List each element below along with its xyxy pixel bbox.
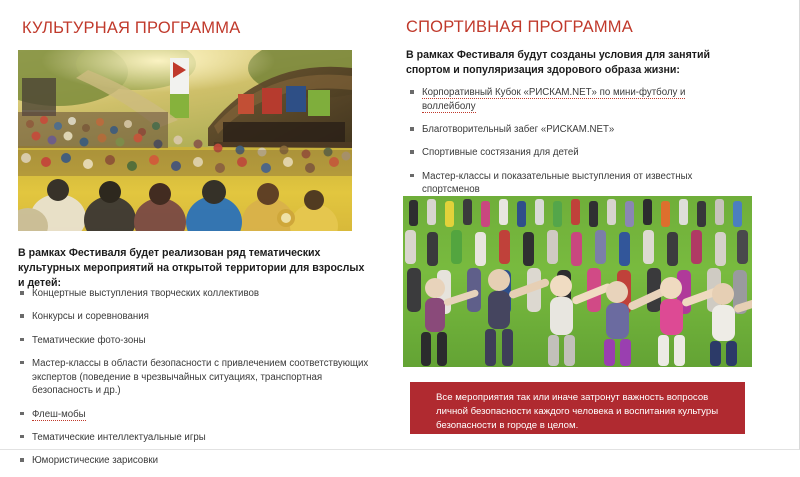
bullet-square-icon [20, 338, 24, 342]
safety-callout-text: Все мероприятия так или иначе затронут в… [410, 382, 745, 433]
list-item: Тематические интеллектуальные игры [18, 431, 378, 445]
bullet-square-icon [20, 361, 24, 365]
sport-program-column: СПОРТИВНАЯ ПРОГРАММА В рамках Фестиваля … [396, 0, 800, 450]
list-item: Тематические фото-зоны [18, 334, 378, 348]
list-item: Юмористические зарисовки [18, 454, 378, 468]
bullet-square-icon [410, 127, 414, 131]
list-item-label: Мастер-классы и показательные выступлени… [422, 171, 692, 196]
mass-aerobics-photo [403, 196, 752, 367]
bullet-square-icon [410, 174, 414, 178]
list-item: Флеш-мобы [18, 408, 378, 422]
sport-program-bullet-list: Корпоративный Кубок «РИСКАМ.NET» по мини… [408, 86, 738, 207]
bullet-square-icon [20, 314, 24, 318]
list-item-label: Юмористические зарисовки [32, 455, 158, 466]
sport-program-lead-text: В рамках Фестиваля будут созданы условия… [406, 48, 738, 78]
list-item-label: Конкурсы и соревнования [32, 311, 149, 322]
list-item-label: Благотворительный забег «РИСКАМ.NET» [422, 124, 614, 135]
list-item-label: Спортивные состязания для детей [422, 147, 579, 158]
list-item: Спортивные состязания для детей [408, 146, 738, 160]
list-item: Концертные выступления творческих коллек… [18, 287, 378, 301]
bullet-square-icon [410, 150, 414, 154]
bullet-square-icon [20, 458, 24, 462]
bullet-square-icon [20, 435, 24, 439]
list-item: Мастер-классы и показательные выступлени… [408, 170, 738, 198]
list-item: Мастер-классы в области безопасности с п… [18, 357, 378, 398]
list-item-label: Концертные выступления творческих коллек… [32, 288, 259, 299]
cultural-program-lead-text: В рамках Фестиваля будет реализован ряд … [18, 246, 370, 291]
list-item-label: Флеш-мобы [32, 409, 86, 421]
cultural-program-column: КУЛЬТУРНАЯ ПРОГРАММА [0, 0, 396, 450]
slide-canvas: КУЛЬТУРНАЯ ПРОГРАММА [0, 0, 800, 450]
festival-crowd-photo [18, 50, 352, 231]
bullet-square-icon [20, 412, 24, 416]
cultural-program-bullet-list: Концертные выступления творческих коллек… [18, 287, 378, 477]
list-item-label: Тематические интеллектуальные игры [32, 432, 206, 443]
safety-callout-box: Все мероприятия так или иначе затронут в… [410, 382, 745, 434]
sport-program-title: СПОРТИВНАЯ ПРОГРАММА [406, 18, 633, 37]
list-item-label: Тематические фото-зоны [32, 335, 146, 346]
list-item: Конкурсы и соревнования [18, 310, 378, 324]
list-item: Корпоративный Кубок «РИСКАМ.NET» по мини… [408, 86, 738, 114]
list-item: Благотворительный забег «РИСКАМ.NET» [408, 123, 738, 137]
bullet-square-icon [20, 291, 24, 295]
bullet-square-icon [410, 90, 414, 94]
list-item-label: Мастер-классы в области безопасности с п… [32, 358, 368, 397]
list-item-label: Корпоративный Кубок «РИСКАМ.NET» по мини… [422, 87, 685, 113]
cultural-program-title: КУЛЬТУРНАЯ ПРОГРАММА [22, 19, 240, 38]
